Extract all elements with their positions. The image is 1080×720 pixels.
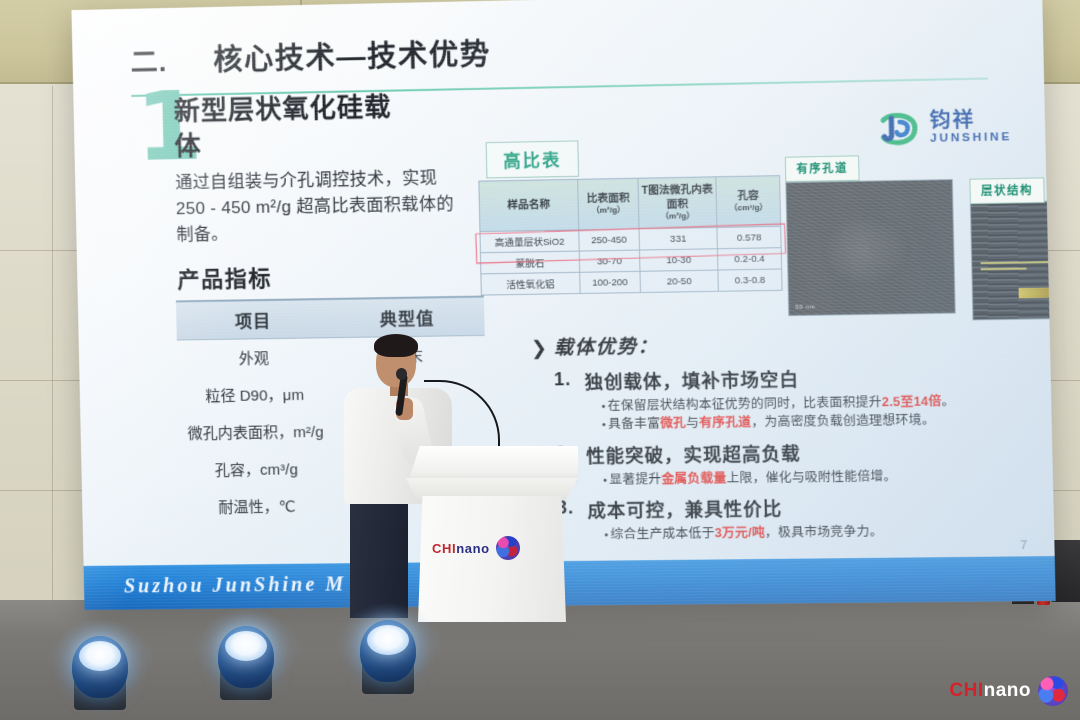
list-item: 3. 成本可控，兼具性价比 综合生产成本低于3万元/吨，极具市场竞争力。 [557,492,1021,545]
photo-tag-ordered-pores: 有序孔道 [785,155,860,182]
col-sample: 样品名称 [479,179,579,231]
material-table-tag: 高比表 [486,140,579,178]
light-head [218,626,274,688]
col-micro: T图法微孔内表面积 （m²/g） [638,177,717,229]
sem-scalebar-label: 50 nm [795,305,815,311]
spec-item: 耐温性，℃ [180,495,334,518]
table-header-row: 样品名称 比表面积 （m²/g） T图法微孔内表面积 （m²/g） 孔容 （cm… [479,176,781,232]
spec-item: 粒径 D90，μm [178,383,332,406]
photo-tag-layered-structure: 层状结构 [969,177,1044,204]
slide-page-number: 7 [1020,538,1027,552]
spec-item: 微孔内表面积，m²/g [179,421,333,444]
spec-table-header: 项目 典型值 [176,296,485,341]
advantage-title-row: 2. 性能突破，实现超高负载 [555,437,1019,469]
table-row: 外观 粉末 [177,336,486,378]
light-lens [367,625,409,655]
col-micro-unit: （m²/g） [641,210,714,221]
material-table: 样品名称 比表面积 （m²/g） T图法微孔内表面积 （m²/g） 孔容 （cm… [478,175,782,295]
junshine-name-cn: 钧祥 [929,110,1011,132]
advantage-subpoints: 显著提升金属负载量上限，催化与吸附性能倍增。 [603,466,1020,489]
advantage-title-row: 3. 成本可控，兼具性价比 [557,492,1021,524]
light-lens [79,641,121,671]
cell-pore: 0.578 [717,226,781,248]
spec-col-value: 典型值 [330,304,485,332]
col-ssa: 比表面积 （m²/g） [578,178,639,230]
col-ssa-unit: （m²/g） [581,205,636,216]
screen-bottom-band: Suzhou JunShine M LTD [84,556,1056,610]
chevron-right-icon: ❯ [531,338,549,359]
advantage-title: 成本可控，兼具性价比 [587,495,782,524]
speaker-hair [374,334,418,357]
presentation-screen: 二. 核心技术—技术优势 1 新型层状氧化硅载体 通过自组装与介孔调控技术，实现… [71,0,1055,610]
cell-micro: 331 [639,227,718,250]
col-pore-unit: （cm³/g） [719,203,778,214]
cell-ssa: 30-70 [579,250,640,272]
sem-marker [1019,288,1050,299]
advantage-title-row: 1. 独创载体，填补市场空白 [554,363,1018,396]
light-lens [225,631,267,661]
sem-image-layered-structure [970,200,1056,320]
watermark-nano: nano [984,680,1031,701]
col-pore-label: 孔容 [737,190,759,203]
sub-point: 综合生产成本低于3万元/吨，极具市场竞争力。 [604,522,1021,544]
advantage-subpoints: 在保留层状结构本征优势的同时，比表面积提升2.5至14倍。 具备丰富微孔与有序孔… [601,392,1018,434]
cell-ssa: 250-450 [579,229,640,251]
cell-sample: 高通量层状SiO2 [480,230,579,253]
slide-title: 核心技术—技术优势 [213,31,491,79]
spec-col-item: 项目 [176,306,330,333]
col-pore: 孔容 （cm³/g） [716,176,781,228]
col-sample-label: 样品名称 [507,198,550,211]
cell-micro: 10-30 [639,249,718,272]
spec-heading: 产品指标 [177,261,272,295]
light-head [360,620,416,682]
chinano-chi: CHI [432,541,456,556]
screenshot-root: 二. 核心技术—技术优势 1 新型层状氧化硅载体 通过自组装与介孔调控技术，实现… [0,0,1080,720]
cell-sample: 活性氧化铝 [481,272,580,295]
advantage-title: 独创载体，填补市场空白 [584,366,799,395]
cell-sample: 蒙脱石 [480,251,579,274]
speaker-legs [350,496,408,618]
podium-top [408,446,578,482]
junshine-mark-icon [877,111,923,146]
list-item: 1. 独创载体，填补市场空白 在保留层状结构本征优势的同时，比表面积提升2.5至… [554,363,1019,435]
advantages-heading-label: 载体优势： [553,336,658,359]
spec-item: 外观 [177,346,331,369]
podium-chinano-logo: CHInano [432,536,520,560]
sem-streak [981,268,1027,271]
watermark-wordmark: CHInano [949,680,1031,702]
cell-pore: 0.2-0.4 [718,248,782,270]
cell-micro: 20-50 [640,270,719,293]
advantage-subpoints: 综合生产成本低于3万元/吨，极具市场竞争力。 [604,522,1021,544]
table-row: 活性氧化铝 100-200 20-50 0.3-0.8 [481,269,782,295]
junshine-logo: 钧祥 JUNSHINE [877,110,1012,147]
chinano-sphere-icon [496,536,520,560]
watermark-chi: CHI [949,680,983,701]
cell-ssa: 100-200 [580,271,641,293]
cell-pore: 0.3-0.8 [718,269,782,291]
advantage-number: 1. [554,369,573,396]
wall-vline [52,86,53,602]
lead-title: 新型层状氧化硅载体 [173,90,396,164]
slide-header: 二. 核心技术—技术优势 [130,20,987,81]
list-item: 2. 性能突破，实现超高负载 显著提升金属负载量上限，催化与吸附性能倍增。 [555,437,1019,490]
sem-streak [981,261,1050,264]
microphone-capsule [396,368,407,380]
lead-body: 通过自组装与介孔调控技术，实现250 - 450 m²/g 超高比表面积载体的制… [175,165,464,248]
light-head [72,636,128,698]
junshine-name-en: JUNSHINE [930,132,1012,145]
col-micro-label: T图法微孔内表面积 [641,184,712,210]
chinano-watermark: CHInano [949,676,1068,706]
spec-item: 孔容，cm³/g [179,458,333,481]
podium-chinano-wordmark: CHInano [432,541,490,556]
junshine-wordmark: 钧祥 JUNSHINE [929,110,1012,146]
advantages-list: 1. 独创载体，填补市场空白 在保留层状结构本征优势的同时，比表面积提升2.5至… [554,363,1021,553]
sem-image-ordered-pores: 50 nm [785,179,955,316]
advantages-heading: ❯载体优势： [531,331,659,360]
chinano-nano: nano [456,541,489,556]
advantage-title: 性能突破，实现超高负载 [586,439,801,468]
col-ssa-label: 比表面积 [587,192,630,205]
sub-point: 显著提升金属负载量上限，催化与吸附性能倍增。 [603,466,1020,489]
watermark-sphere-icon [1038,676,1068,706]
